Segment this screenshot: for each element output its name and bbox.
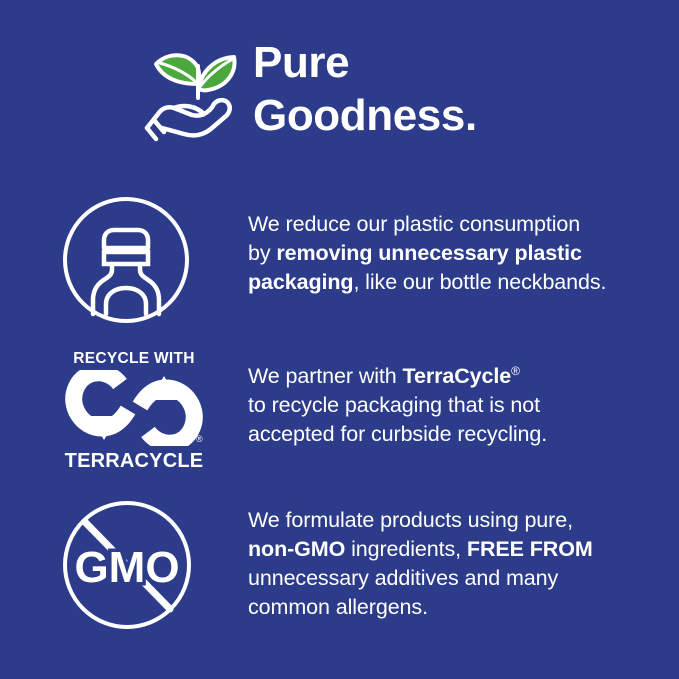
- benefit-line: We partner with TerraCycle®: [248, 362, 547, 391]
- benefit-line: packaging, like our bottle neckbands.: [248, 268, 606, 297]
- header: Pure Goodness.: [0, 0, 679, 172]
- page-title: Pure Goodness.: [253, 36, 653, 142]
- benefit-line: non-GMO ingredients, FREE FROM: [248, 535, 593, 564]
- terracycle-logo: RECYCLE WITH ®: [64, 350, 204, 472]
- benefit-text-gmo: We formulate products using pure, non-GM…: [248, 496, 593, 622]
- registered-mark: ®: [196, 434, 203, 444]
- benefit-line: to recycle packaging that is not: [248, 391, 547, 420]
- benefit-line: unnecessary additives and many: [248, 564, 593, 593]
- benefit-row-plastic: We reduce our plastic consumption by rem…: [0, 196, 679, 326]
- benefit-row-gmo: GMO We formulate products using pure, no…: [0, 496, 679, 636]
- benefit-icon-cell: RECYCLE WITH ®: [0, 346, 248, 478]
- benefit-row-terracycle: RECYCLE WITH ®: [0, 346, 679, 478]
- benefit-icon-cell: [0, 196, 248, 326]
- gmo-label: GMO: [74, 543, 179, 592]
- benefit-icon-cell: GMO: [0, 496, 248, 636]
- benefit-line: common allergens.: [248, 593, 593, 622]
- pure-goodness-infographic: Pure Goodness. W: [0, 0, 679, 679]
- benefit-text-plastic: We reduce our plastic consumption by rem…: [248, 196, 606, 297]
- no-gmo-icon: GMO: [62, 500, 192, 630]
- benefit-line: accepted for curbside recycling.: [248, 420, 547, 449]
- hand-holding-sprout-icon: [142, 36, 254, 148]
- page-title-line-1: Pure: [253, 36, 653, 89]
- benefit-line: We reduce our plastic consumption: [248, 210, 606, 239]
- terracycle-logo-top-text: RECYCLE WITH: [64, 350, 204, 367]
- benefit-line: by removing unnecessary plastic: [248, 239, 606, 268]
- recycle-infinity-icon: ®: [64, 370, 204, 446]
- bottle-neckband-icon: [62, 196, 190, 324]
- terracycle-logo-bottom-text: TERRACYCLE: [64, 450, 204, 472]
- page-title-line-2: Goodness.: [253, 89, 653, 142]
- benefit-text-terracycle: We partner with TerraCycle® to recycle p…: [248, 346, 547, 449]
- benefit-line: We formulate products using pure,: [248, 506, 593, 535]
